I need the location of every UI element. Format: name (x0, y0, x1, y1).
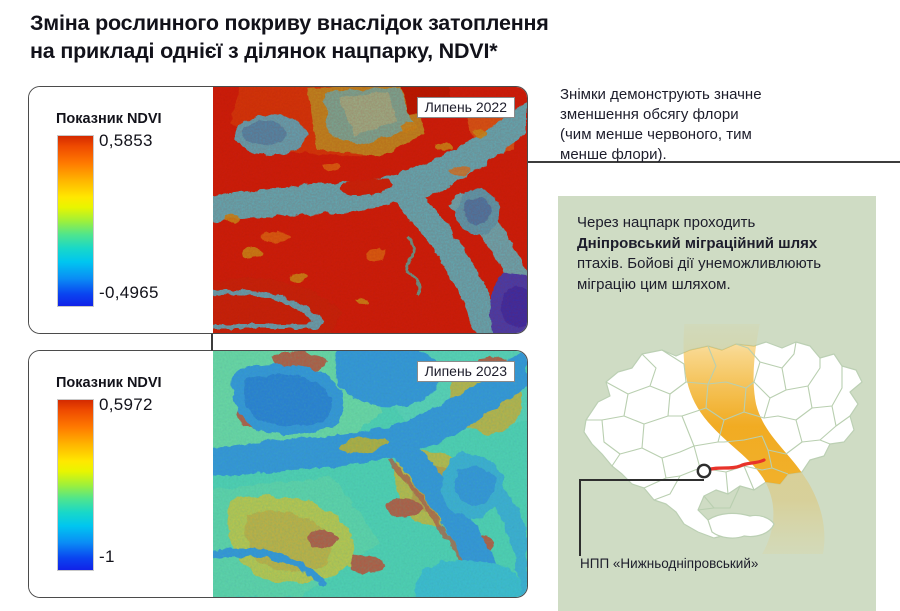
ndvi-card-2023: Липень 2023 Показник NDVI 0,5972 -1 (28, 350, 528, 598)
park-leader-vertical (579, 479, 581, 556)
park-leader-horizontal (579, 479, 704, 481)
colorbar-max-2022: 0,5853 (99, 131, 153, 151)
migration-text: Через нацпарк проходить Дніпровський міг… (577, 213, 859, 295)
migration-text-bold: Дніпровський міграційний шлях (577, 235, 817, 252)
date-badge-2022: Липень 2022 (417, 97, 515, 118)
park-label: НПП «Нижньодніпровський» (580, 556, 758, 571)
ndvi-raster-2023: Липень 2023 (213, 351, 527, 597)
page-title: Зміна рослинного покриву внаслідок затоп… (30, 10, 650, 66)
ndvi-raster-2022: Липень 2022 (213, 87, 527, 333)
crimea (708, 513, 774, 538)
migration-panel: Через нацпарк проходить Дніпровський міг… (558, 196, 876, 611)
colorbar-max-2023: 0,5972 (99, 395, 153, 415)
card-divider-line (211, 334, 213, 352)
date-badge-2023: Липень 2023 (417, 361, 515, 382)
colorbar-min-2023: -1 (99, 547, 115, 567)
ukraine-map (558, 324, 876, 554)
migration-text-before: Через нацпарк проходить (577, 214, 755, 231)
colorbar-2022 (57, 135, 94, 307)
colorbar-2023 (57, 399, 94, 571)
legend-title-2022: Показник NDVI (56, 111, 162, 127)
migration-text-after: птахів. Бойові дії унеможливлюють міграц… (577, 255, 821, 293)
flora-decrease-note: Знімки демонструють значне зменшення обс… (560, 85, 890, 165)
legend-title-2023: Показник NDVI (56, 375, 162, 391)
colorbar-min-2022: -0,4965 (99, 283, 159, 303)
ndvi-legend-2022: Показник NDVI 0,5853 -0,4965 (29, 87, 213, 333)
ndvi-legend-2023: Показник NDVI 0,5972 -1 (29, 351, 213, 597)
ndvi-card-2022: Липень 2022 Показник NDVI 0,5853 -0,4965 (28, 86, 528, 334)
